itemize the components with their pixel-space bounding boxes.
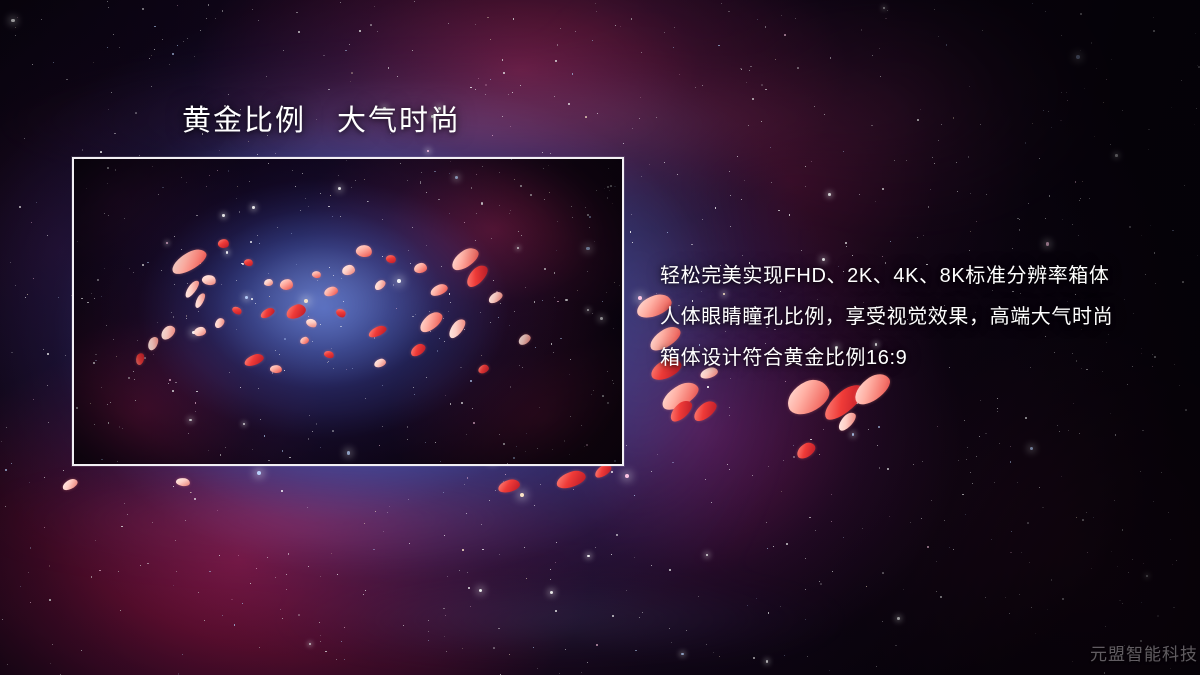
framed-nebula-photo [72,157,624,466]
rose-petal [555,468,588,491]
presentation-slide: 黄金比例 大气时尚 轻松完美实现FHD、2K、4K、8K标准分辨率箱体 人体眼睛… [0,0,1200,675]
body-line-3: 箱体设计符合黄金比例16:9 [660,338,1170,379]
watermark-label: 元盟智能科技 [1090,640,1198,665]
rose-petal [794,440,818,461]
rose-petal [175,477,190,487]
rose-petal [782,374,834,419]
rose-petal [658,378,703,414]
slide-title: 黄金比例 大气时尚 [182,103,461,139]
rose-petal [61,477,79,492]
frame-vignette [74,159,622,464]
body-line-2: 人体眼睛瞳孔比例，享受视觉效果，高端大气时尚 [660,297,1170,338]
rose-petal [497,478,521,494]
slide-body-text: 轻松完美实现FHD、2K、4K、8K标准分辨率箱体 人体眼睛瞳孔比例，享受视觉效… [660,256,1170,379]
rose-petal [835,410,858,433]
rose-petal [667,397,696,424]
rose-petal [819,379,869,424]
rose-petal [690,398,719,424]
body-line-1: 轻松完美实现FHD、2K、4K、8K标准分辨率箱体 [660,256,1170,297]
